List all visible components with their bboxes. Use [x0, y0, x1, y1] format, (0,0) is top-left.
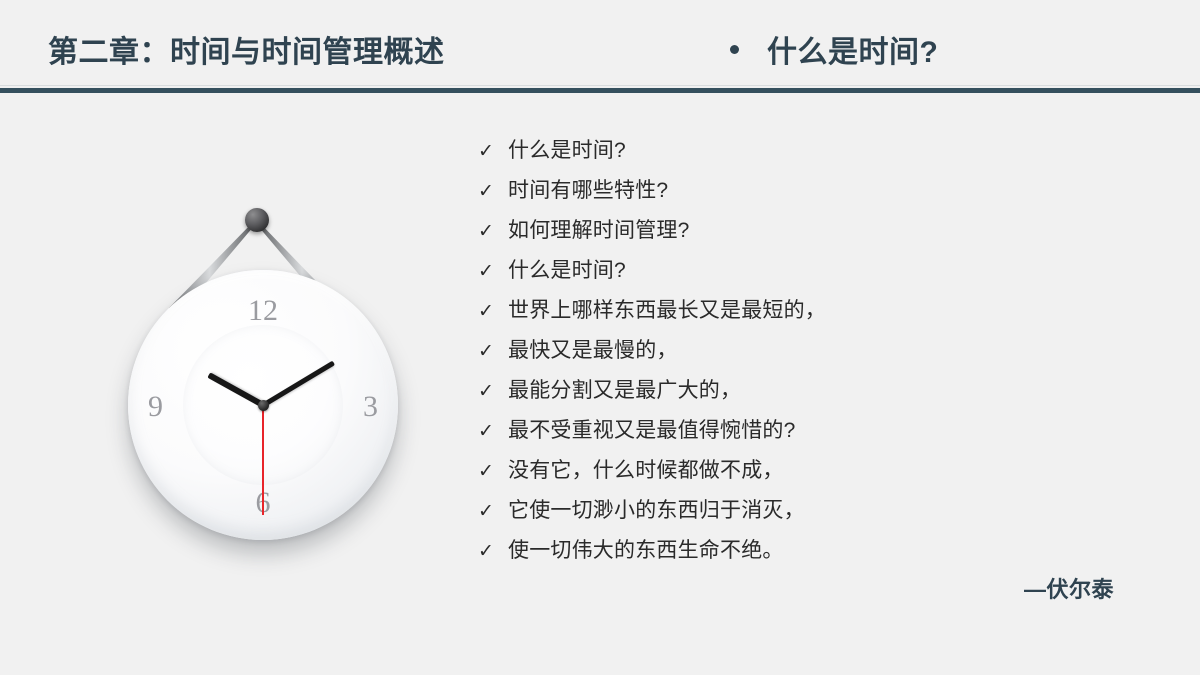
quote-attribution: —伏尔泰 [1024, 572, 1114, 604]
list-item: ✓ 没有它，什么时候都做不成， [478, 460, 1118, 500]
clock-numeral-12: 12 [128, 296, 398, 326]
wall-clock-illustration: 12 3 9 6 [106, 196, 406, 556]
check-icon: ✓ [478, 462, 508, 481]
list-item-label: 最快又是最慢的， [508, 340, 678, 361]
header-rule-hairline [0, 85, 1200, 86]
list-item: ✓ 如何理解时间管理? [478, 220, 1118, 260]
slide-header: 第二章：时间与时间管理概述 什么是时间? [0, 0, 1200, 92]
list-item: ✓ 什么是时间? [478, 140, 1118, 180]
list-item-label: 它使一切渺小的东西归于消灭， [508, 500, 805, 521]
header-divider [0, 88, 1200, 93]
check-icon: ✓ [478, 182, 508, 201]
content-bullet-list: ✓ 什么是时间? ✓ 时间有哪些特性? ✓ 如何理解时间管理? ✓ 什么是时间?… [478, 140, 1118, 580]
list-item-label: 什么是时间? [508, 260, 626, 281]
list-item: ✓ 它使一切渺小的东西归于消灭， [478, 500, 1118, 540]
list-item-label: 没有它，什么时候都做不成， [508, 460, 784, 481]
check-icon: ✓ [478, 302, 508, 321]
check-icon: ✓ [478, 382, 508, 401]
list-item-label: 使一切伟大的东西生命不绝。 [508, 540, 784, 561]
list-item-label: 最不受重视又是最值得惋惜的? [508, 420, 795, 441]
list-item: ✓ 什么是时间? [478, 260, 1118, 300]
list-item: ✓ 时间有哪些特性? [478, 180, 1118, 220]
clock-center-cap-icon [258, 400, 269, 411]
clock-numeral-9: 9 [148, 392, 163, 422]
check-icon: ✓ [478, 262, 508, 281]
list-item-label: 世界上哪样东西最长又是最短的， [508, 300, 826, 321]
list-item-label: 如何理解时间管理? [508, 220, 689, 241]
list-item-label: 什么是时间? [508, 140, 626, 161]
check-icon: ✓ [478, 422, 508, 441]
list-item-label: 最能分割又是最广大的， [508, 380, 741, 401]
check-icon: ✓ [478, 222, 508, 241]
list-item: ✓ 最能分割又是最广大的， [478, 380, 1118, 420]
clock-numeral-3: 3 [363, 392, 378, 422]
clock-second-hand-icon [262, 405, 264, 515]
check-icon: ✓ [478, 502, 508, 521]
page-title: 第二章：时间与时间管理概述 [48, 27, 445, 71]
list-item: ✓ 最快又是最慢的， [478, 340, 1118, 380]
header-subtitle: 什么是时间? [767, 27, 938, 71]
clock-face: 12 3 9 6 [128, 270, 398, 540]
clock-hanger-knob-icon [245, 208, 269, 232]
list-item-label: 时间有哪些特性? [508, 180, 668, 201]
check-icon: ✓ [478, 342, 508, 361]
list-item: ✓ 世界上哪样东西最长又是最短的， [478, 300, 1118, 340]
check-icon: ✓ [478, 542, 508, 561]
check-icon: ✓ [478, 142, 508, 161]
list-item: ✓ 使一切伟大的东西生命不绝。 [478, 540, 1118, 580]
header-subtitle-group: 什么是时间? [730, 27, 938, 71]
list-item: ✓ 最不受重视又是最值得惋惜的? [478, 420, 1118, 460]
bullet-dot-icon [730, 45, 739, 54]
